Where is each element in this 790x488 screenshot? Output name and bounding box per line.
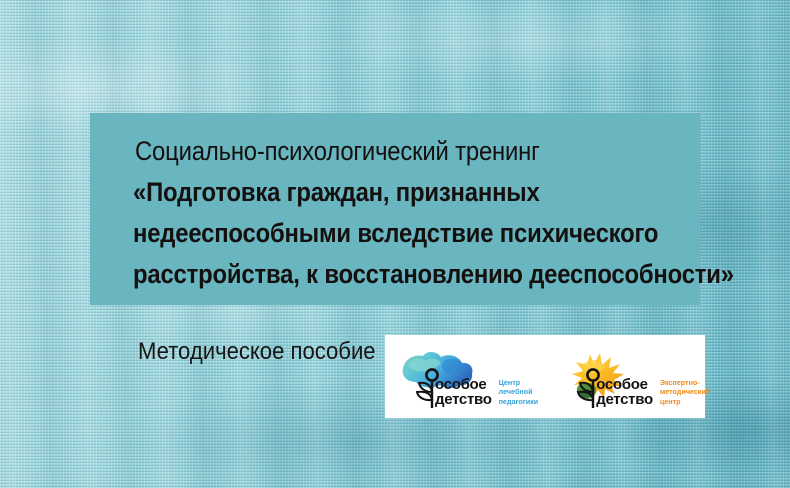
logo-tagline-line-1: Центр [499, 378, 539, 387]
logo-tagline-line-2: методический [660, 387, 710, 396]
logo-tagline-line-3: педагогики [499, 397, 539, 406]
logo-tagline-line-3: центр [660, 397, 710, 406]
logo-strip: особое детство Центр лечебной педагогики [385, 335, 705, 418]
logo-tagline-emc: Экспертно- методический центр [660, 378, 710, 406]
logo-wordmark-line-2: детство [596, 393, 653, 408]
logo-wordmark-emc: особое детство [596, 378, 653, 407]
logo-osoboe-detstvo-emc: особое детство Экспертно- методический ц… [560, 335, 710, 418]
logo-tagline-clp: Центр лечебной педагогики [499, 378, 539, 406]
logo-tagline-line-1: Экспертно- [660, 378, 710, 387]
title-line-3: недееспособными вследствие психического [133, 213, 634, 254]
logo-wordmark-clp: особое детство [435, 378, 492, 407]
logo-wordmark-line-2: детство [435, 393, 492, 408]
subtitle: Методическое пособие [138, 337, 376, 367]
title-line-1: Социально-психологический тренинг [135, 131, 635, 172]
title-text-block: Социально-психологический тренинг «Подго… [135, 131, 690, 295]
cover-page: Социально-психологический тренинг «Подго… [0, 0, 790, 488]
title-panel: Социально-психологический тренинг «Подго… [90, 113, 700, 305]
title-line-4: расстройства, к восстановлению дееспособ… [133, 254, 634, 295]
title-line-2: «Подготовка граждан, признанных [133, 172, 634, 213]
logo-osoboe-detstvo-clp: особое детство Центр лечебной педагогики [399, 335, 538, 418]
logo-tagline-line-2: лечебной [499, 387, 539, 396]
